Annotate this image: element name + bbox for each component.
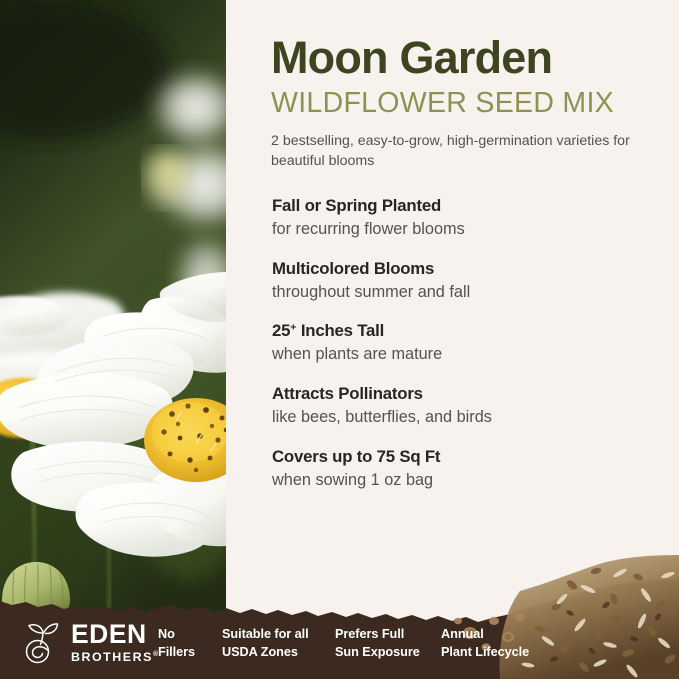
footer-fact-list: No Fillers Suitable for all USDA Zones P… bbox=[158, 625, 561, 661]
footer-fact-line1: No bbox=[158, 625, 222, 643]
footer-fact: Annual Plant Lifecycle bbox=[441, 625, 561, 661]
footer-fact-line2: USDA Zones bbox=[222, 643, 335, 661]
feature-item: Covers up to 75 Sq Ft when sowing 1 oz b… bbox=[272, 447, 662, 491]
feature-heading: Multicolored Blooms bbox=[272, 259, 662, 280]
feature-subtext: when plants are mature bbox=[272, 344, 662, 365]
footer-fact-line1: Suitable for all bbox=[222, 625, 335, 643]
footer-fact-line1: Annual bbox=[441, 625, 561, 643]
feature-heading: Fall or Spring Planted bbox=[272, 196, 662, 217]
footer-fact: Suitable for all USDA Zones bbox=[222, 625, 335, 661]
product-poster: Moon Garden WILDFLOWER SEED MIX 2 bestse… bbox=[0, 0, 679, 679]
footer-fact-line1: Prefers Full bbox=[335, 625, 441, 643]
feature-item: Fall or Spring Planted for recurring flo… bbox=[272, 196, 662, 240]
brand-name: EDEN bbox=[71, 621, 158, 648]
footer-fact: Prefers Full Sun Exposure bbox=[335, 625, 441, 661]
feature-list: Fall or Spring Planted for recurring flo… bbox=[272, 196, 662, 491]
feature-subtext: for recurring flower blooms bbox=[272, 219, 662, 240]
product-subtitle: WILDFLOWER SEED MIX bbox=[271, 88, 671, 119]
footer-fact-line2: Plant Lifecycle bbox=[441, 643, 561, 661]
product-tagline: 2 bestselling, easy-to-grow, high-germin… bbox=[271, 131, 631, 172]
brand-logo[interactable]: EDEN BROTHERS® bbox=[22, 620, 158, 664]
feature-heading: Attracts Pollinators bbox=[272, 384, 662, 405]
brand-subname: BROTHERS® bbox=[71, 651, 158, 663]
sprout-icon bbox=[22, 620, 64, 664]
feature-item: 25+ Inches Tall when plants are mature bbox=[272, 321, 662, 365]
title-block: Moon Garden WILDFLOWER SEED MIX 2 bestse… bbox=[271, 34, 671, 172]
feature-subtext: throughout summer and fall bbox=[272, 282, 662, 303]
feature-item: Attracts Pollinators like bees, butterfl… bbox=[272, 384, 662, 428]
brand-subname-text: BROTHERS bbox=[71, 650, 153, 664]
feature-item: Multicolored Blooms throughout summer an… bbox=[272, 259, 662, 303]
feature-heading-rest: Inches Tall bbox=[296, 321, 384, 340]
feature-subtext: like bees, butterflies, and birds bbox=[272, 407, 662, 428]
feature-heading: 25+ Inches Tall bbox=[272, 321, 662, 342]
feature-heading-value: 25 bbox=[272, 321, 290, 340]
feature-subtext: when sowing 1 oz bag bbox=[272, 470, 662, 491]
footer-content: EDEN BROTHERS® No Fillers Suitable for a… bbox=[0, 608, 679, 679]
brand-wordmark: EDEN BROTHERS® bbox=[71, 621, 158, 663]
product-title: Moon Garden bbox=[271, 34, 671, 81]
footer-bar: EDEN BROTHERS® No Fillers Suitable for a… bbox=[0, 555, 679, 679]
footer-fact-line2: Sun Exposure bbox=[335, 643, 441, 661]
feature-heading: Covers up to 75 Sq Ft bbox=[272, 447, 662, 468]
footer-fact-line2: Fillers bbox=[158, 643, 222, 661]
footer-fact: No Fillers bbox=[158, 625, 222, 661]
